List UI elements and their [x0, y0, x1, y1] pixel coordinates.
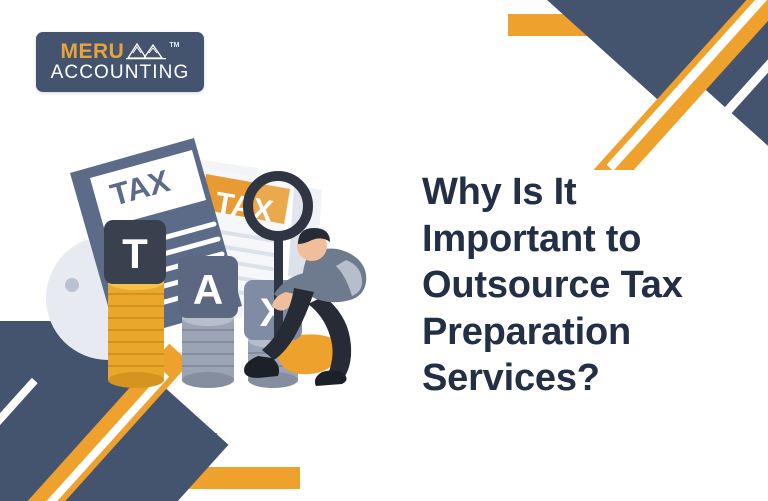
letter-block-t: T [104, 220, 166, 284]
headline-line-1: Why Is It [422, 171, 576, 213]
top-right-orange-diagonal [579, 0, 768, 170]
headline-line-5: Services? [422, 357, 600, 399]
top-right-slate-diagonal-2 [606, 0, 768, 170]
letter-block-t-label: T [122, 230, 148, 277]
top-right-corner-graphic [508, 0, 768, 170]
coin-stack-gold [108, 274, 164, 388]
bottom-left-slate-tab [153, 433, 218, 467]
bottom-left-orange-band [108, 467, 300, 489]
top-right-white-stripe [716, 59, 768, 123]
headline-line-3: Outsource Tax [422, 264, 683, 306]
logo-brand-secondary: ACCOUNTING [51, 63, 190, 83]
logo-primary-row: MERU TM [61, 41, 180, 62]
meru-accounting-logo[interactable]: MERU TM ACCOUNTING [36, 32, 204, 92]
top-right-orange-inner-stripe [607, 0, 768, 170]
letter-block-a: A [178, 256, 238, 318]
accent-dot [65, 278, 79, 292]
letter-block-a-label: A [193, 266, 223, 313]
bottom-left-white-stripe [0, 378, 38, 438]
banner-canvas: MERU TM ACCOUNTING Why Is It Important t… [0, 0, 768, 501]
tax-preparation-illustration: TAX TAX [46, 128, 396, 398]
shoe-back [315, 370, 347, 386]
headline-line-2: Important to [422, 218, 641, 260]
logo-brand-primary: MERU [61, 41, 125, 62]
headline-line-4: Preparation [422, 311, 631, 353]
coin-stack-silver-1 [182, 310, 234, 388]
top-right-slate-diagonal [508, 0, 768, 108]
logo-trademark: TM [169, 42, 179, 49]
top-right-orange-band [508, 14, 668, 36]
mountain-peaks-icon [126, 41, 166, 61]
page-title: Why Is It Important to Outsource Tax Pre… [422, 169, 742, 401]
